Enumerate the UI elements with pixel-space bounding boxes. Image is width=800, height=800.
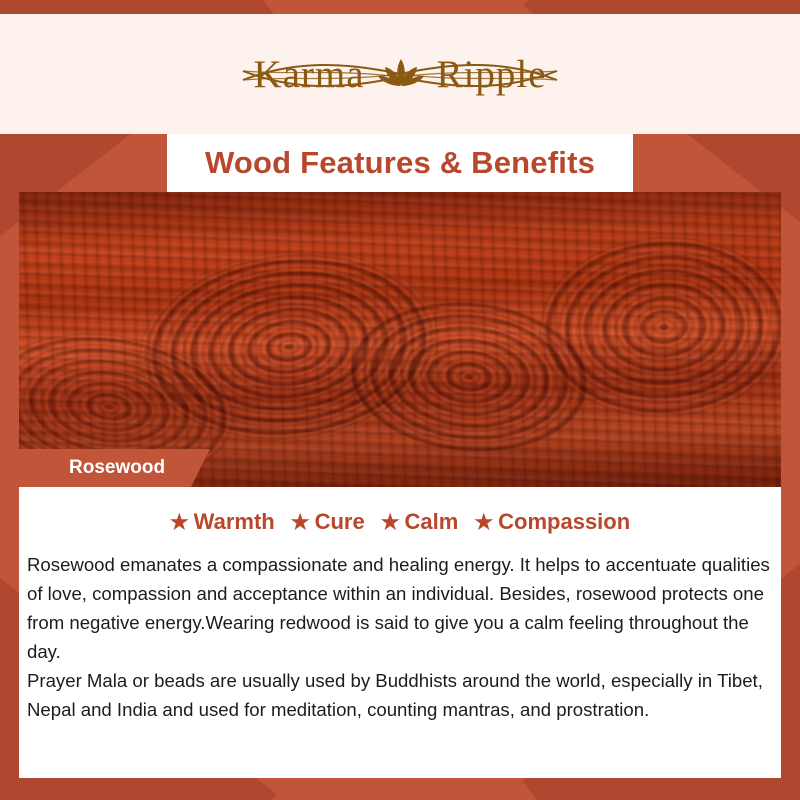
keyword-item-warmth: ★ Warmth bbox=[170, 509, 275, 535]
rosewood-grain-photo bbox=[19, 192, 781, 487]
keyword-label: Warmth bbox=[194, 509, 275, 535]
brand-name-right: Ripple bbox=[437, 52, 547, 97]
wood-type-label: Rosewood bbox=[19, 449, 191, 487]
brand-logo-inner: Karma Ripple bbox=[253, 52, 546, 97]
page-title: Wood Features & Benefits bbox=[205, 145, 595, 181]
star-icon: ★ bbox=[381, 512, 400, 533]
keyword-item-calm: ★ Calm bbox=[381, 509, 459, 535]
keyword-label: Cure bbox=[315, 509, 365, 535]
keyword-item-cure: ★ Cure bbox=[291, 509, 365, 535]
star-icon: ★ bbox=[291, 512, 310, 533]
keyword-label: Compassion bbox=[498, 509, 630, 535]
wood-type-label-text: Rosewood bbox=[69, 457, 165, 479]
infographic-page: Karma Ripple Wood Features & Benefits bbox=[0, 0, 800, 800]
description-paragraph-2: Prayer Mala or beads are usually used by… bbox=[27, 666, 779, 724]
star-icon: ★ bbox=[474, 512, 493, 533]
wood-shading-layer bbox=[19, 192, 781, 487]
keyword-list: ★ Warmth ★ Cure ★ Calm ★ Compassion bbox=[19, 509, 781, 535]
keyword-label: Calm bbox=[405, 509, 459, 535]
description-text: Rosewood emanates a compassionate and he… bbox=[27, 550, 779, 724]
brand-name-left: Karma bbox=[253, 52, 364, 97]
description-paragraph-1: Rosewood emanates a compassionate and he… bbox=[27, 550, 779, 666]
lotus-flower-icon bbox=[375, 54, 427, 94]
star-icon: ★ bbox=[170, 512, 189, 533]
keyword-item-compassion: ★ Compassion bbox=[474, 509, 630, 535]
title-plate: Wood Features & Benefits bbox=[167, 134, 633, 192]
brand-logo: Karma Ripple bbox=[0, 14, 800, 134]
body-panel: ★ Warmth ★ Cure ★ Calm ★ Compassion Rose… bbox=[19, 487, 781, 778]
